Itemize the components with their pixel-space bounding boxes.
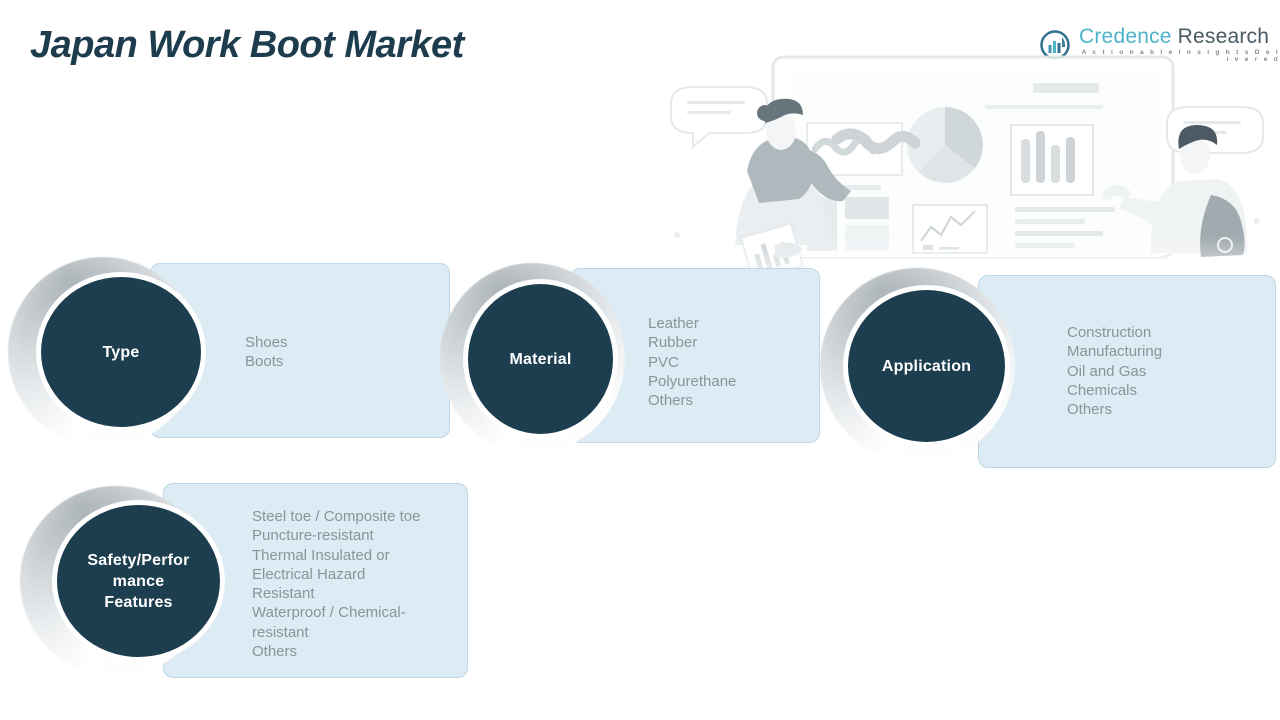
logo-word-research: Research	[1178, 26, 1269, 47]
card-disc-application[interactable]: Application	[848, 290, 1005, 442]
card-disc-material[interactable]: Material	[468, 284, 613, 434]
logo-word-credence: Credence	[1079, 26, 1172, 47]
card-disc-type[interactable]: Type	[41, 277, 201, 427]
card-label-type: Type	[89, 342, 154, 363]
bar-chart-circle-logo-icon	[1040, 30, 1070, 60]
card-disc-safety[interactable]: Safety/Perfor mance Features	[57, 505, 220, 657]
card-items-safety: Steel toe / Composite toe Puncture-resis…	[252, 507, 467, 661]
logo-tagline: A c t i o n a b l e I n s i g h t s D e …	[1079, 50, 1280, 63]
business-presentation-illustration	[655, 45, 1280, 300]
card-items-material: Leather Rubber PVC Polyurethane Others	[648, 314, 828, 410]
logo-text-block: Credence Research A c t i o n a b l e I …	[1079, 26, 1280, 63]
speech-bubble-left	[671, 87, 767, 147]
page-title: Japan Work Boot Market	[30, 24, 464, 67]
card-items-application: Construction Manufacturing Oil and Gas C…	[1067, 323, 1272, 419]
card-label-safety: Safety/Perfor mance Features	[57, 550, 220, 613]
presenter-right-figure	[1107, 125, 1247, 257]
card-label-application: Application	[868, 356, 985, 377]
card-items-type: Shoes Boots	[245, 333, 435, 372]
card-label-material: Material	[495, 349, 585, 370]
presenter-left-figure	[735, 99, 915, 280]
speech-bubble-right	[1167, 107, 1263, 167]
logo-wordmark: Credence Research	[1079, 26, 1280, 47]
infographic-canvas: Japan Work Boot Market Credence Research…	[0, 0, 1280, 720]
brand-logo: Credence Research A c t i o n a b l e I …	[1040, 26, 1280, 63]
